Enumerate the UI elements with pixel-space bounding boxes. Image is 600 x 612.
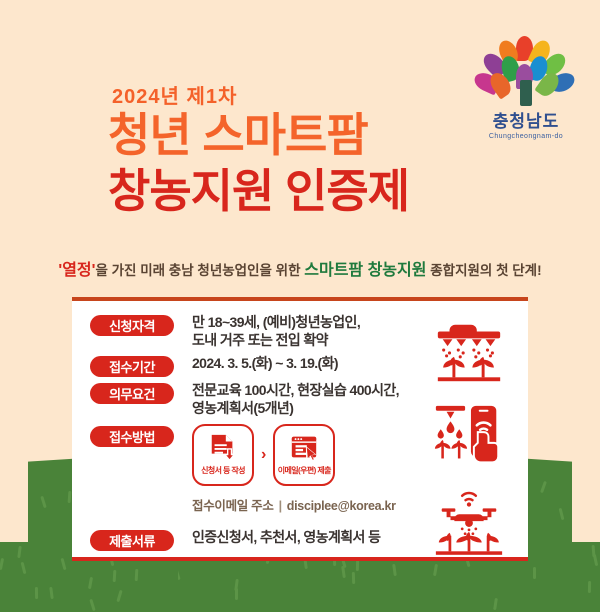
- row-value-line: 영농계획서(5개년): [192, 399, 399, 417]
- method-step-submit-caption: 이메일(우편) 제출: [278, 465, 331, 476]
- grass-blade: [113, 569, 117, 581]
- info-row: 접수기간 2024. 3. 5.(화) ~ 3. 19.(화): [90, 354, 420, 377]
- grass-blade: [591, 545, 595, 557]
- smart-irrigation-phone-icon: [430, 400, 508, 476]
- email-address[interactable]: disciplee@korea.kr: [287, 499, 396, 513]
- logo-name-ko: 충청남도: [474, 107, 578, 132]
- row-label-method: 접수방법: [90, 426, 174, 447]
- document-download-icon: [208, 433, 238, 463]
- method-step-submit[interactable]: 이메일(우편) 제출: [273, 424, 335, 486]
- poster-title-line1: 청년 스마트팜: [108, 112, 368, 158]
- drone-crops-icon: [430, 487, 508, 563]
- grass-blade: [134, 569, 138, 581]
- subtitle-highlight-red: '열정': [58, 262, 95, 279]
- grass-blade: [392, 564, 397, 576]
- grass-blade: [88, 577, 93, 589]
- logo-name-en: Chungcheongnam-do: [474, 133, 578, 140]
- grass-blade: [20, 561, 26, 573]
- info-row-documents: 제출서류 인증신청서, 추천서, 영농계획서 등: [90, 528, 420, 551]
- smart-farm-icon-column: [430, 313, 508, 574]
- grass-blade: [49, 587, 53, 599]
- grass-blade: [61, 558, 67, 570]
- grass-blade: [0, 558, 4, 570]
- grass-blade: [89, 598, 95, 610]
- row-value-line: 2024. 3. 5.(화) ~ 3. 19.(화): [192, 354, 338, 372]
- poster-title-line2: 창농지원 인증제: [108, 168, 409, 214]
- grass-blade: [356, 559, 359, 571]
- grass-blade: [352, 572, 355, 584]
- info-row: 의무요건 전문교육 100시간, 현장실습 400시간, 영농계획서(5개년): [90, 381, 420, 418]
- method-arrow-icon: ›: [261, 446, 266, 464]
- row-value-period: 2024. 3. 5.(화) ~ 3. 19.(화): [192, 354, 338, 372]
- email-line: 접수이메일 주소|disciplee@korea.kr: [192, 495, 396, 514]
- info-row: 신청자격 만 18~39세, (예비)청년농업인, 도내 거주 또는 전입 확약: [90, 313, 420, 350]
- browser-cursor-icon: [289, 433, 319, 463]
- logo-trunk: [520, 80, 532, 106]
- row-value-line: 도내 거주 또는 전입 확약: [192, 331, 360, 349]
- grass-blade: [588, 581, 591, 593]
- row-value-qualification: 만 18~39세, (예비)청년농업인, 도내 거주 또는 전입 확약: [192, 313, 360, 350]
- grass-blade: [235, 588, 238, 600]
- poster-kicker: 2024년 제1차: [112, 80, 237, 109]
- row-label-requirements: 의무요건: [90, 383, 174, 404]
- email-label: 접수이메일 주소: [192, 499, 274, 513]
- info-row-method: 접수방법 신청서 등 작성: [90, 424, 420, 514]
- method-step-write-caption: 신청서 등 작성: [201, 465, 245, 476]
- grass-blade: [540, 481, 547, 493]
- subtitle-mid-2: 종합지원의 첫 단계!: [426, 263, 541, 278]
- method-steps: 신청서 등 작성 ›: [192, 424, 396, 486]
- method-step-write[interactable]: 신청서 등 작성: [192, 424, 254, 486]
- row-value-requirements: 전문교육 100시간, 현장실습 400시간, 영농계획서(5개년): [192, 381, 399, 418]
- row-value-line: 만 18~39세, (예비)청년농업인,: [192, 313, 360, 331]
- grass-blade: [17, 546, 21, 558]
- grass-blade: [559, 508, 565, 520]
- grass-blade: [116, 590, 122, 602]
- info-card: 신청자격 만 18~39세, (예비)청년농업인, 도내 거주 또는 전입 확약…: [72, 297, 528, 561]
- poster-root: 2024년 제1차 청년 스마트팜 창농지원 인증제 충청남도 Chungche…: [0, 0, 600, 612]
- row-label-documents: 제출서류: [90, 530, 174, 551]
- grass-blade: [40, 495, 46, 507]
- info-rows: 신청자격 만 18~39세, (예비)청년농업인, 도내 거주 또는 전입 확약…: [90, 313, 420, 555]
- row-value-documents: 인증신청서, 추천서, 영농계획서 등: [192, 528, 380, 546]
- sprinkler-crops-icon: [430, 313, 508, 389]
- email-separator: |: [279, 499, 282, 513]
- row-value-line: 전문교육 100시간, 현장실습 400시간,: [192, 381, 399, 399]
- poster-subtitle: '열정'을 가진 미래 충남 청년농업인을 위한 스마트팜 창농지원 종합지원의…: [0, 256, 600, 280]
- chungcheongnam-do-logo: 충청남도 Chungcheongnam-do: [474, 36, 578, 140]
- row-label-qualification: 신청자격: [90, 315, 174, 336]
- grass-blade: [493, 598, 498, 610]
- grass-blade: [533, 567, 536, 579]
- grass-blade: [35, 587, 38, 599]
- subtitle-highlight-green: 스마트팜 창농지원: [304, 262, 426, 279]
- row-label-period: 접수기간: [90, 356, 174, 377]
- logo-tree-icon: [478, 36, 574, 106]
- grass-blade: [68, 491, 72, 503]
- subtitle-mid-1: 을 가진 미래 충남 청년농업인을 위한: [95, 263, 304, 278]
